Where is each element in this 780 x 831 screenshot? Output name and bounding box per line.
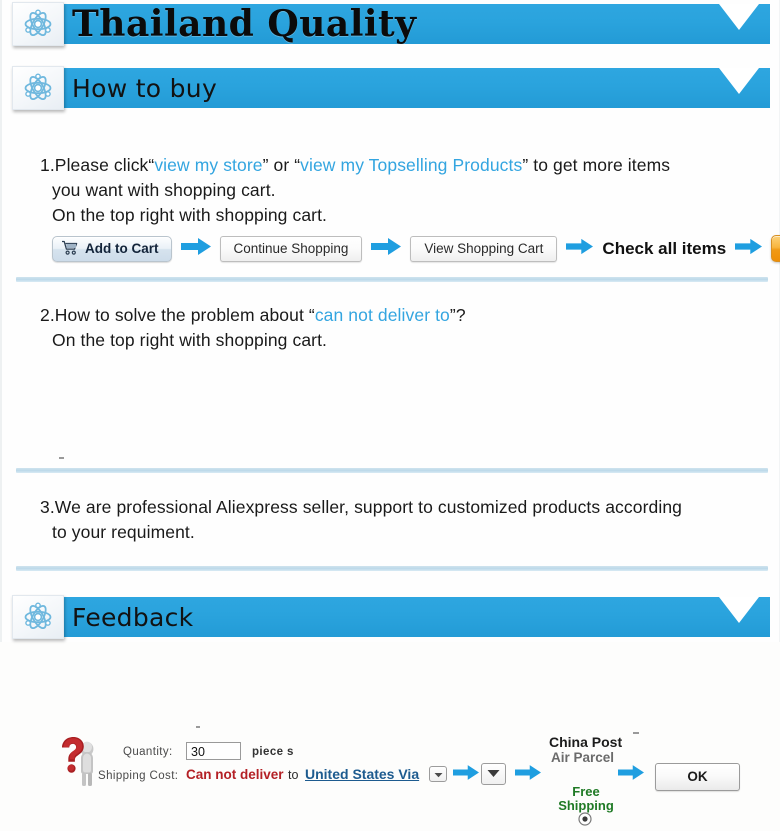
step-1-line1-post: ” to get more items <box>522 155 670 175</box>
banner-thailand-quality: Thailand Quality <box>12 4 770 44</box>
arrow-right-icon <box>735 238 762 260</box>
free-shipping-line1: Free <box>572 784 599 799</box>
question-mark-person-icon <box>58 736 104 793</box>
cannot-deliver-text: Can not deliver <box>186 767 284 782</box>
view-shopping-cart-label: View Shopping Cart <box>424 241 543 256</box>
link-can-not-deliver-to[interactable]: can not deliver to <box>315 305 450 325</box>
shopping-cart-icon <box>61 240 79 258</box>
step-2-number: 2. <box>40 305 55 325</box>
step-1-line1-pre: Please click“ <box>55 155 155 175</box>
banner-title: Feedback <box>72 597 710 637</box>
banner-feedback: Feedback <box>12 597 770 637</box>
step-1-text: 1.Please click“view my store” or “view m… <box>40 153 760 228</box>
continue-shopping-label: Continue Shopping <box>234 241 349 256</box>
shipping-cost-label: Shipping Cost: <box>98 770 178 782</box>
country-select-link[interactable]: United States Via <box>305 766 419 782</box>
chevron-down-icon <box>434 765 443 783</box>
link-view-topselling-products[interactable]: view my Topselling Products <box>300 155 522 175</box>
artifact-speck <box>196 726 200 728</box>
free-shipping-label: Free Shipping <box>553 785 619 813</box>
quantity-label: Quantity: <box>123 746 173 758</box>
section-divider <box>16 566 768 571</box>
step-1-line1-mid: ” or “ <box>263 155 301 175</box>
step-1-line2: you want with shopping cart. <box>40 178 760 203</box>
step-2-line1-post: ”? <box>450 305 466 325</box>
atom-icon <box>23 602 53 632</box>
step-3-text: 3.We are professional Aliexpress seller,… <box>40 495 760 545</box>
page-root: Thailand Quality How to buy <box>0 0 780 642</box>
piece-unit-label: piece s <box>252 746 294 758</box>
add-to-cart-label: Add to Cart <box>85 241 159 256</box>
shipping-method-dropdown[interactable] <box>481 763 506 785</box>
arrow-right-icon <box>566 238 593 260</box>
step-3-number: 3. <box>40 497 55 517</box>
continue-shopping-button[interactable]: Continue Shopping <box>220 236 363 262</box>
artifact-speck <box>59 457 64 459</box>
link-view-my-store[interactable]: view my store <box>154 155 262 175</box>
atom-icon <box>23 73 53 103</box>
step-2-text: 2.How to solve the problem about “can no… <box>40 303 760 353</box>
arrow-right-icon <box>515 764 541 786</box>
arrow-right-icon <box>453 764 479 786</box>
chevron-down-icon <box>487 765 500 783</box>
banner-how-to-buy: How to buy <box>12 68 770 108</box>
free-shipping-line2: Shipping <box>558 798 614 813</box>
artifact-speck <box>633 732 639 734</box>
ok-button[interactable]: OK <box>655 763 740 791</box>
step-1-line3: On the top right with shopping cart. <box>40 203 760 228</box>
arrow-right-icon <box>371 238 401 260</box>
step-2-line2: On the top right with shopping cart. <box>40 328 760 353</box>
banner-title: Thailand Quality <box>72 4 710 44</box>
section-divider <box>16 468 768 473</box>
step-2-line1-pre: How to solve the problem about “ <box>55 305 315 325</box>
arrow-right-icon <box>181 238 211 260</box>
quantity-input[interactable]: 30 <box>186 742 241 760</box>
view-shopping-cart-button[interactable]: View Shopping Cart <box>410 236 557 262</box>
step-3-line1: We are professional Aliexpress seller, s… <box>55 497 682 517</box>
step-2-shipping-panel: Quantity: 30 piece s Shipping Cost: Can … <box>2 360 780 465</box>
atom-icon <box>23 9 53 39</box>
step-3-line2: to your requiment. <box>40 520 760 545</box>
to-word-label: to <box>288 768 298 782</box>
country-dropdown-small[interactable] <box>429 766 447 782</box>
radio-selected-icon[interactable] <box>578 812 592 831</box>
buy-now-button[interactable]: Buy Now <box>771 235 780 262</box>
banner-title: How to buy <box>72 68 710 108</box>
check-all-items-label: Check all items <box>602 239 726 259</box>
carrier-name-label: China Post <box>549 735 622 750</box>
atom-icon-tile <box>12 2 64 46</box>
add-to-cart-button[interactable]: Add to Cart <box>52 236 172 262</box>
step-1-number: 1. <box>40 155 55 175</box>
arrow-right-icon <box>618 764 644 786</box>
step-1-button-flow: Add to Cart Continue Shopping View Shopp… <box>52 235 780 262</box>
atom-icon-tile <box>12 595 64 639</box>
atom-icon-tile <box>12 66 64 110</box>
carrier-service-label: Air Parcel <box>551 750 614 765</box>
section-divider <box>16 277 768 282</box>
